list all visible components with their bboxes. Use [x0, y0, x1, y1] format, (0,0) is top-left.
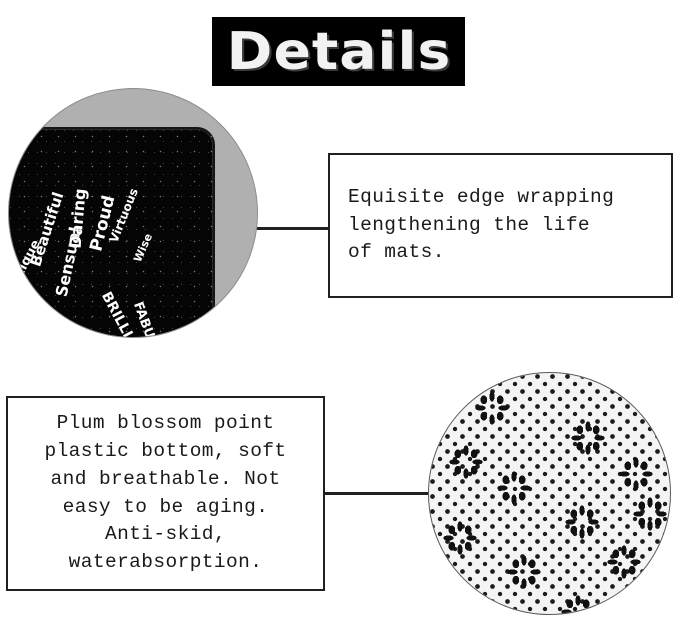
- doormat-closeup-photo: UniquestrongMagicBeautifulSensualDaringP…: [8, 88, 258, 338]
- callout-edge-wrapping: Equisite edge wrapping lengthening the l…: [328, 153, 673, 298]
- mat-word: Magic: [8, 315, 25, 338]
- callout-plum-blossom-bottom: Plum blossom point plastic bottom, soft …: [6, 396, 325, 591]
- plum-blossom-motif: [607, 545, 641, 579]
- details-banner: Details: [212, 17, 465, 86]
- plum-blossom-motif: [507, 555, 541, 589]
- plum-blossom-motif: [443, 521, 477, 555]
- mat-word: FABULOUS: [130, 300, 170, 338]
- details-infographic: Details UniquestrongMagicBeautifulSensua…: [0, 0, 679, 619]
- mat-surface: UniquestrongMagicBeautifulSensualDaringP…: [8, 127, 215, 338]
- plum-blossom-motif: [449, 445, 483, 479]
- callout-plum-blossom-bottom-text: Plum blossom point plastic bottom, soft …: [22, 410, 309, 576]
- plum-blossom-motif: [565, 505, 599, 539]
- anti-skid-backing-photo: [428, 372, 671, 615]
- plum-blossom-motif: [475, 391, 509, 425]
- plum-blossom-motif: [633, 497, 667, 531]
- plum-blossom-motif: [497, 471, 531, 505]
- connector-callout-to-backing: [323, 492, 436, 495]
- details-banner-title: Details: [226, 26, 451, 78]
- mat-word-cloud: UniquestrongMagicBeautifulSensualDaringP…: [8, 129, 213, 338]
- mat-word: Daring: [66, 188, 90, 250]
- plum-blossom-motif: [561, 595, 595, 615]
- mat-word: Wise: [131, 232, 155, 265]
- plum-blossom-motif: [571, 421, 605, 455]
- callout-edge-wrapping-text: Equisite edge wrapping lengthening the l…: [348, 184, 657, 267]
- plum-blossom-motif: [619, 457, 653, 491]
